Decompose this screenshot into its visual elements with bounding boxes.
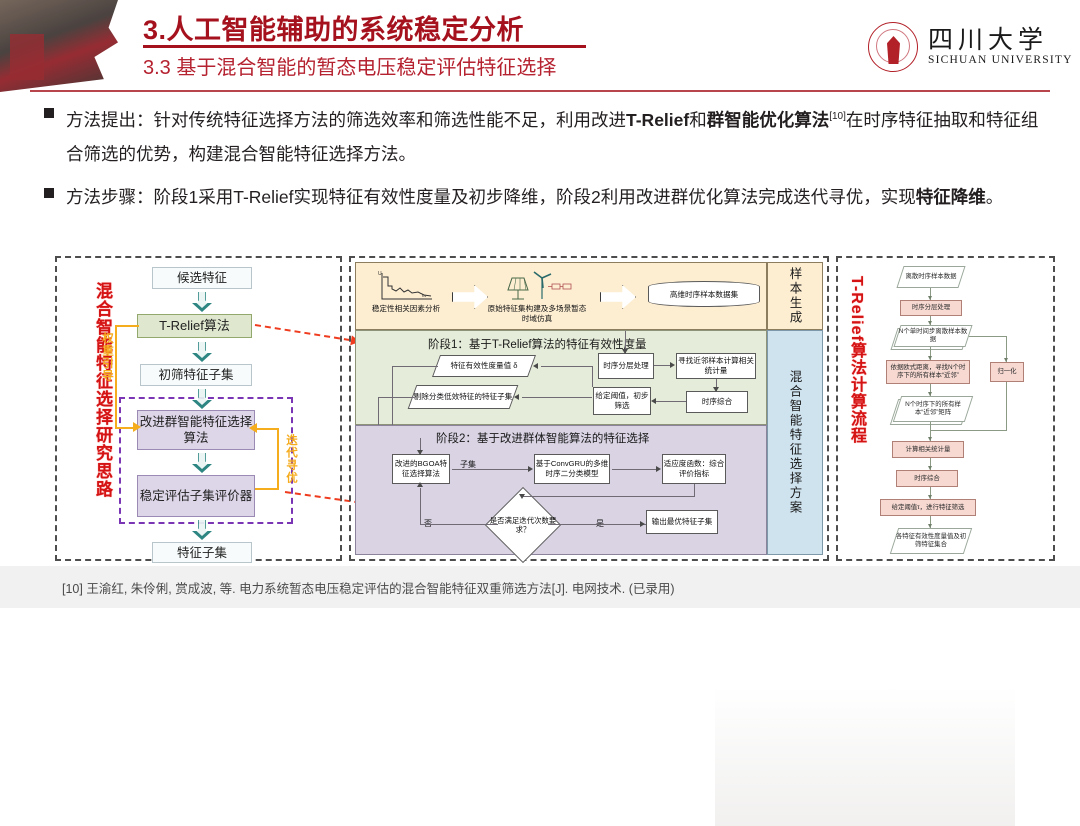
- page-subtitle: 3.3 基于混合智能的暂态电压稳定评估特征选择: [143, 51, 556, 80]
- edge: [378, 397, 414, 398]
- svg-text:t/s: t/s: [422, 293, 426, 298]
- sichuan-university-seal-icon: [868, 22, 918, 72]
- node-label: 特征有效性度量值 δ: [437, 361, 531, 371]
- bullet-text-segment: [10]: [829, 111, 846, 122]
- edge-arrow-icon: [651, 398, 656, 404]
- node-validity-measure: 特征有效性度量值 δ: [432, 355, 536, 377]
- middle-panel: U t/s 稳定性相关因素分析 原始特征集构建及多场景暂态时域仿真 高维时序样本…: [349, 256, 829, 561]
- edge: [1006, 382, 1007, 430]
- edge-arrow-icon: [417, 450, 423, 455]
- edge-arrow-icon: [928, 392, 932, 396]
- weight-guide-arrowhead-icon: [133, 422, 141, 432]
- bullet-text-segment: 特征降维: [916, 187, 986, 207]
- edge: [420, 488, 421, 524]
- logo-chinese-name: 四川大学: [928, 20, 1048, 56]
- left-panel: 混合智能特征选择研究思路 候选特征 T-Relief算法 初筛特征子集 改进群智…: [55, 256, 342, 561]
- iterate-edge: [255, 428, 279, 430]
- edge-arrow-icon: [928, 437, 932, 441]
- edge: [592, 366, 593, 387]
- node-label: 各特征有效性度量值及初筛特征集合: [895, 533, 967, 549]
- flow-arrow-right-icon: [600, 285, 636, 309]
- node-temporal-layering: 时序分层处理: [598, 353, 654, 379]
- right-panel-title: T-Relief算法计算流程: [844, 276, 868, 444]
- edge: [541, 366, 593, 367]
- edge: [969, 336, 1007, 337]
- background-watermark: [715, 686, 1015, 826]
- node-temporal-fusion: 时序综合: [686, 391, 748, 413]
- page-title: 3.人工智能辅助的系统稳定分析: [143, 8, 524, 47]
- node-candidate-features: 候选特征: [152, 267, 252, 289]
- stage2-band: 阶段2：基于改进群体智能算法的特征选择 改进的BGOA特征选择算法 基于Conv…: [355, 425, 767, 555]
- bullet-text-segment: 群智能优化算法: [707, 110, 830, 130]
- left-panel-title: 混合智能特征选择研究思路: [90, 282, 115, 498]
- edge: [392, 366, 393, 426]
- edge-arrow-icon: [928, 466, 932, 470]
- edge: [694, 484, 695, 496]
- edge-arrow-icon: [656, 466, 661, 472]
- edge: [392, 366, 438, 367]
- label-stability-factor: 稳定性相关因素分析: [370, 304, 442, 314]
- bullet-item: 方法步骤：阶段1采用T-Relief实现特征有效性度量及初步降维，阶段2利用改进…: [44, 180, 1044, 214]
- right-panel: T-Relief算法计算流程 离散时序样本数据 时序分层处理 N个单时间步离散样…: [836, 256, 1055, 561]
- line-chart-icon: U t/s: [374, 269, 436, 305]
- stage2-title: 阶段2：基于改进群体智能算法的特征选择: [436, 430, 649, 446]
- edge-arrow-icon: [622, 349, 628, 354]
- edge: [931, 430, 1007, 431]
- edge: [548, 524, 646, 525]
- node-label: 是否满足迭代次数要求？: [487, 516, 559, 534]
- header-divider: [30, 90, 1050, 92]
- edge: [656, 401, 686, 402]
- node-dataset: 高维时序样本数据集: [648, 281, 760, 307]
- edge-arrow-icon: [519, 494, 525, 499]
- edge: [522, 397, 592, 398]
- logo-english-name: SICHUAN UNIVERSITY: [928, 54, 1073, 66]
- bullet-marker-icon: [44, 188, 54, 198]
- node-label: N个单时间步离散样本数据: [898, 328, 968, 344]
- flow-arrow-right-icon: [452, 285, 488, 309]
- stage1-band: 阶段1：基于T-Relief算法的特征有效性度量 时序分层处理 寻找近邻样本计算…: [355, 330, 767, 425]
- edge-arrow-icon: [670, 362, 675, 368]
- edge-arrow-icon: [533, 363, 538, 369]
- edge-arrow-icon: [417, 482, 423, 487]
- stage1-title: 阶段1：基于T-Relief算法的特征有效性度量: [428, 336, 647, 352]
- iterate-edge: [277, 428, 279, 490]
- weight-guide-edge: [115, 325, 117, 429]
- iterate-arrowhead-icon: [249, 423, 257, 433]
- node-temporal-layering: 时序分层处理: [900, 300, 962, 316]
- figure-container: 混合智能特征选择研究思路 候选特征 T-Relief算法 初筛特征子集 改进群智…: [55, 256, 1055, 561]
- edge: [420, 524, 498, 525]
- node-compute-statistics: 计算相关统计量: [892, 441, 964, 458]
- node-bgoa-selection: 改进的BGOA特征选择算法: [392, 454, 450, 484]
- flow-arrow-down-icon: [192, 342, 212, 362]
- node-prescreened-subset: 初筛特征子集: [140, 364, 252, 386]
- edge: [522, 496, 695, 497]
- pagoda-decoration-image: [0, 0, 118, 92]
- edge-arrow-icon: [928, 495, 932, 499]
- node-threshold-screen: 给定阈值，初步筛选: [593, 387, 651, 415]
- edge-arrow-icon: [928, 524, 932, 528]
- edge: [378, 397, 379, 426]
- iterate-edge: [255, 488, 279, 490]
- title-underline: [143, 45, 586, 48]
- edge-arrow-icon: [928, 296, 932, 300]
- node-output-best-subset: 输出最优特征子集: [646, 510, 718, 534]
- edge-arrow-icon: [928, 321, 932, 325]
- bullet-list: 方法提出：针对传统特征选择方法的筛选效率和筛选性能不足，利用改进T-Relief…: [44, 100, 1044, 223]
- bullet-marker-icon: [44, 108, 54, 118]
- bullet-text-segment: 方法提出：针对传统特征选择方法的筛选效率和筛选性能不足，利用改进: [66, 110, 626, 130]
- node-find-neighbors: 寻找近邻样本计算相关统计量: [676, 353, 756, 379]
- weight-guide-edge: [115, 325, 139, 327]
- side-label-selection-scheme: 混合智能特征选择方案: [767, 330, 823, 555]
- node-threshold-feature-screen: 给定阈值τ，进行特征筛选: [880, 499, 976, 516]
- solar-wind-icon: [502, 268, 574, 304]
- edge-arrow-icon: [1004, 358, 1008, 362]
- node-label: N个时序下的所有样本“近邻”矩阵: [898, 401, 968, 417]
- node-label: 改进群智能特征选择算法: [138, 414, 254, 446]
- node-label: 离散时序样本数据: [901, 273, 961, 281]
- bullet-text-segment: 和: [689, 110, 707, 130]
- node-n-step-samples: N个单时间步离散样本数据: [893, 325, 972, 347]
- node-neighbor-matrix: N个时序下的所有样本“近邻”矩阵: [893, 396, 973, 422]
- citation-text: [10] 王渝红, 朱伶俐, 赏成波, 等. 电力系统暂态电压稳定评估的混合智能…: [62, 578, 675, 597]
- edge-arrow-icon: [514, 394, 519, 400]
- node-convgru-classifier: 基于ConvGRU的多维时序二分类模型: [534, 454, 610, 484]
- university-logo: 四川大学 SICHUAN UNIVERSITY: [868, 22, 1054, 74]
- bullet-text-segment: 。: [986, 187, 1004, 207]
- side-label-text: 混合智能特征选择方案: [768, 331, 822, 554]
- side-label-text: 样本生成: [768, 263, 822, 329]
- bullet-text-segment: T-Relief: [626, 110, 689, 130]
- edge-arrow-icon: [928, 356, 932, 360]
- node-label: 稳定评估子集评价器: [140, 488, 253, 504]
- node-normalization: 归一化: [990, 362, 1024, 382]
- node-temporal-fusion: 时序综合: [896, 470, 958, 487]
- node-stability-subset-evaluator: 稳定评估子集评价器: [137, 475, 255, 517]
- node-improved-swarm-selection: 改进群智能特征选择算法: [137, 410, 255, 450]
- iterate-label: 迭代寻优: [283, 434, 299, 484]
- node-output-validity: 各特征有效性度量值及初筛特征集合: [890, 528, 972, 554]
- bullet-text: 方法步骤：阶段1采用T-Relief实现特征有效性度量及初步降维，阶段2利用改进…: [66, 180, 1003, 214]
- bullet-item: 方法提出：针对传统特征选择方法的筛选效率和筛选性能不足，利用改进T-Relief…: [44, 100, 1044, 171]
- bullet-text-segment: 方法步骤：阶段1采用T-Relief实现特征有效性度量及初步降维，阶段2利用改进…: [66, 187, 916, 207]
- edge-arrow-icon: [640, 521, 645, 527]
- node-fitness-function: 适应度函数：综合评价指标: [662, 454, 726, 484]
- sample-generation-band: U t/s 稳定性相关因素分析 原始特征集构建及多场景暂态时域仿真 高维时序样本…: [355, 262, 767, 330]
- node-euclidean-neighbors: 依据欧式距离，寻找N个时序下的所有样本“近邻”: [886, 360, 970, 384]
- side-label-sample-generation: 样本生成: [767, 262, 823, 330]
- svg-text:U: U: [378, 271, 382, 277]
- edge: [612, 469, 656, 470]
- node-input-discrete-series: 离散时序样本数据: [896, 266, 965, 288]
- label-scenario-simulation: 原始特征集构建及多场景暂态时域仿真: [484, 304, 590, 324]
- weight-guide-edge: [115, 427, 135, 429]
- bullet-text: 方法提出：针对传统特征选择方法的筛选效率和筛选性能不足，利用改进T-Relief…: [66, 100, 1044, 171]
- edge: [452, 469, 528, 470]
- edge-arrow-icon: [528, 466, 533, 472]
- node-feature-subset: 特征子集: [152, 542, 252, 563]
- weight-guide-label: 权重引导: [99, 332, 115, 382]
- edge-arrow-icon: [713, 387, 719, 392]
- node-trelief-algorithm: T-Relief算法: [137, 314, 252, 338]
- slide-header: 3.人工智能辅助的系统稳定分析 3.3 基于混合智能的暂态电压稳定评估特征选择 …: [0, 0, 1080, 92]
- node-remove-low-efficiency: 剔除分类低效特征的特征子集: [408, 385, 519, 409]
- flow-arrow-down-icon: [192, 292, 212, 312]
- node-label: 剔除分类低效特征的特征子集: [413, 392, 513, 402]
